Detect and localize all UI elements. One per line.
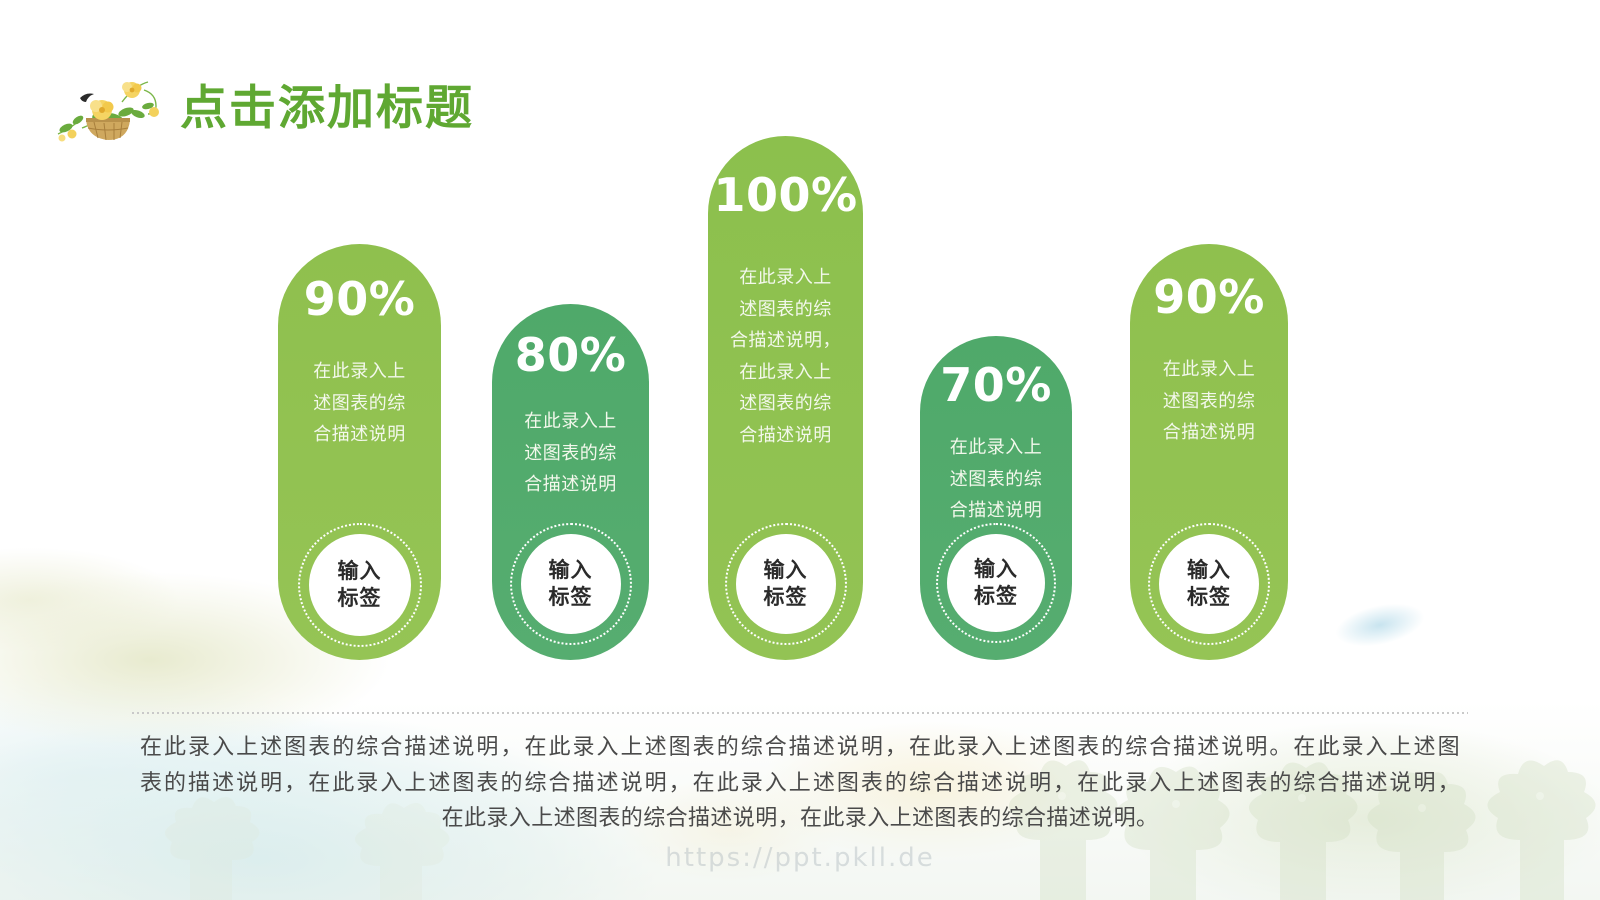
slide-canvas: 点击添加标题 90%在此录入上述图表的综合描述说明输入标签80%在此录入上述图表… (0, 0, 1600, 900)
footer-paragraph-line-1: 在此录入上述图表的综合描述说明，在此录入上述图表的综合描述说明，在此录入上述图表… (140, 730, 1460, 766)
pill-description: 在此录入上述图表的综合描述说明 (313, 356, 406, 451)
pill-badge-dotted-ring (725, 523, 847, 645)
pill-chart: 90%在此录入上述图表的综合描述说明输入标签80%在此录入上述图表的综合描述说明… (0, 0, 1600, 700)
pill-bar[interactable]: 80%在此录入上述图表的综合描述说明输入标签 (492, 304, 649, 660)
pill-badge-dotted-ring (936, 523, 1056, 643)
pill-description: 在此录入上述图表的综合描述说明 (1163, 354, 1256, 449)
pill-badge-dotted-ring (1148, 523, 1270, 645)
pill-label-badge[interactable]: 输入标签 (947, 534, 1045, 632)
pill-badge-dotted-ring (298, 523, 422, 647)
pill-label-badge[interactable]: 输入标签 (1159, 534, 1259, 634)
dotted-divider (132, 712, 1468, 714)
pill-label-badge[interactable]: 输入标签 (521, 534, 621, 634)
pill-bar[interactable]: 90%在此录入上述图表的综合描述说明输入标签 (278, 244, 441, 660)
watermark-url: https://ppt.pkll.de (0, 843, 1600, 873)
footer-paragraph: 在此录入上述图表的综合描述说明，在此录入上述图表的综合描述说明，在此录入上述图表… (140, 730, 1460, 837)
pill-description: 在此录入上述图表的综合描述说明 (524, 406, 617, 501)
pill-percent-value: 90% (1153, 274, 1265, 320)
pill-percent-value: 70% (940, 362, 1052, 408)
pill-label-badge[interactable]: 输入标签 (309, 534, 411, 636)
pill-bar[interactable]: 90%在此录入上述图表的综合描述说明输入标签 (1130, 244, 1288, 660)
pill-bar[interactable]: 100%在此录入上述图表的综合描述说明，在此录入上述图表的综合描述说明输入标签 (708, 136, 863, 660)
pill-percent-value: 80% (515, 332, 627, 378)
pill-description: 在此录入上述图表的综合描述说明 (950, 432, 1043, 527)
footer-paragraph-line-3: 在此录入上述图表的综合描述说明，在此录入上述图表的综合描述说明。 (140, 801, 1460, 837)
pill-badge-dotted-ring (510, 523, 632, 645)
pill-percent-value: 100% (713, 172, 857, 218)
pill-percent-value: 90% (304, 276, 416, 322)
pill-bar[interactable]: 70%在此录入上述图表的综合描述说明输入标签 (920, 336, 1072, 660)
pill-description: 在此录入上述图表的综合描述说明，在此录入上述图表的综合描述说明 (730, 262, 841, 451)
pill-label-badge[interactable]: 输入标签 (736, 534, 836, 634)
footer-paragraph-line-2: 表的描述说明，在此录入上述图表的综合描述说明，在此录入上述图表的综合描述说明，在… (140, 766, 1460, 802)
